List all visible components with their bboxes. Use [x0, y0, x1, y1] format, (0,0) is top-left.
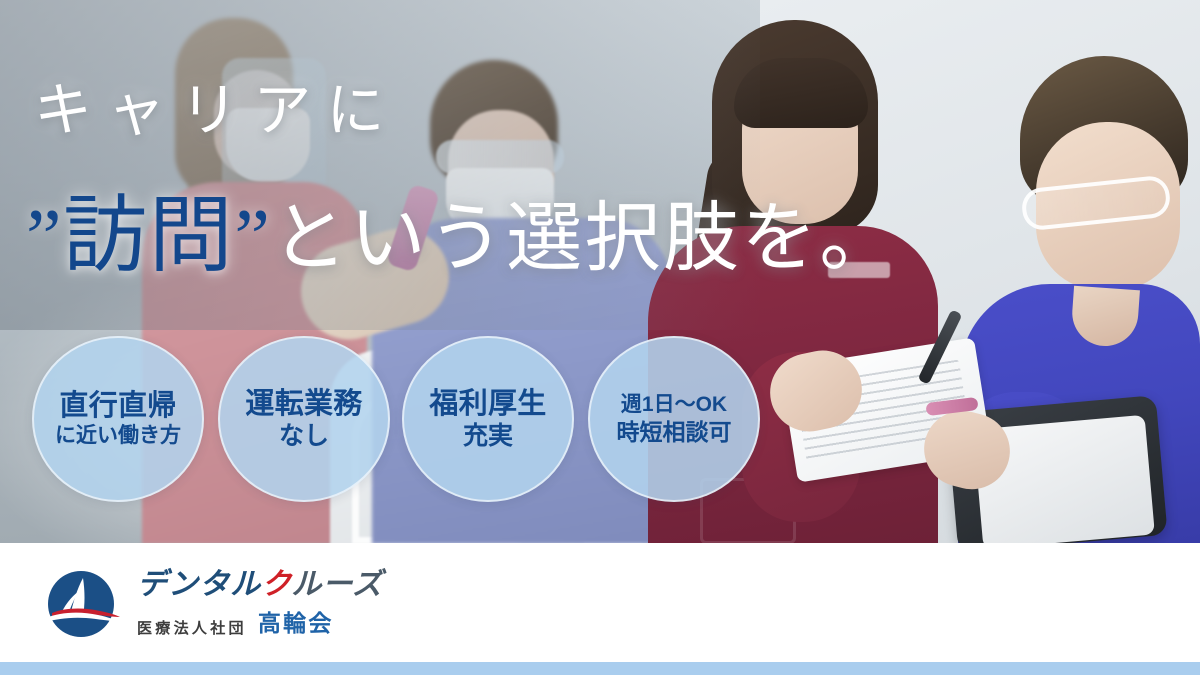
sailboat-circle-icon	[38, 561, 124, 647]
feature-badge-unten-nashi: 運転業務 なし	[218, 336, 390, 502]
badge-primary-text: 福利厚生	[429, 387, 546, 421]
brand-logo-text: デンタルクルーズ 医療法人社団 高輪会	[137, 570, 383, 638]
hero-banner: キャリアに ” 訪問 ” という選択肢を。 直行直帰 に近い働き方 運転業務 な…	[0, 0, 1200, 543]
bottom-accent-strip	[0, 662, 1200, 675]
feature-badge-fukuri-jujitsu: 福利厚生 充実	[402, 336, 574, 502]
brand-name-part2: ルーズ	[291, 568, 383, 601]
brand-name-kana: デンタルクルーズ	[137, 570, 383, 600]
feature-badge-group: 直行直帰 に近い働き方 運転業務 なし 福利厚生 充実 週1日〜OK 時短相談可	[0, 0, 1200, 543]
badge-secondary-text: 充実	[463, 421, 513, 451]
feature-badge-chokkou-chokki: 直行直帰 に近い働き方	[32, 336, 204, 502]
brand-name-accent: ク	[261, 568, 291, 601]
brand-logo[interactable]: デンタルクルーズ 医療法人社団 高輪会	[38, 561, 383, 647]
brand-name-part1: デンタル	[137, 568, 261, 601]
badge-secondary-text: 時短相談可	[617, 418, 732, 446]
corporate-name: 高輪会	[258, 604, 334, 638]
brand-corporate-line: 医療法人社団 高輪会	[137, 604, 383, 638]
footer-bar: デンタルクルーズ 医療法人社団 高輪会 訪問歯科衛生士(パート)に応募する ＞	[0, 543, 1200, 662]
badge-secondary-text: に近い働き方	[55, 423, 181, 449]
corporate-type: 医療法人社団	[137, 617, 247, 638]
badge-primary-text: 運転業務	[245, 387, 362, 421]
badge-primary-text: 直行直帰	[59, 389, 176, 423]
feature-badge-shukkin-ok: 週1日〜OK 時短相談可	[588, 336, 760, 502]
badge-secondary-text: なし	[279, 421, 329, 451]
badge-primary-text: 週1日〜OK	[621, 392, 727, 418]
